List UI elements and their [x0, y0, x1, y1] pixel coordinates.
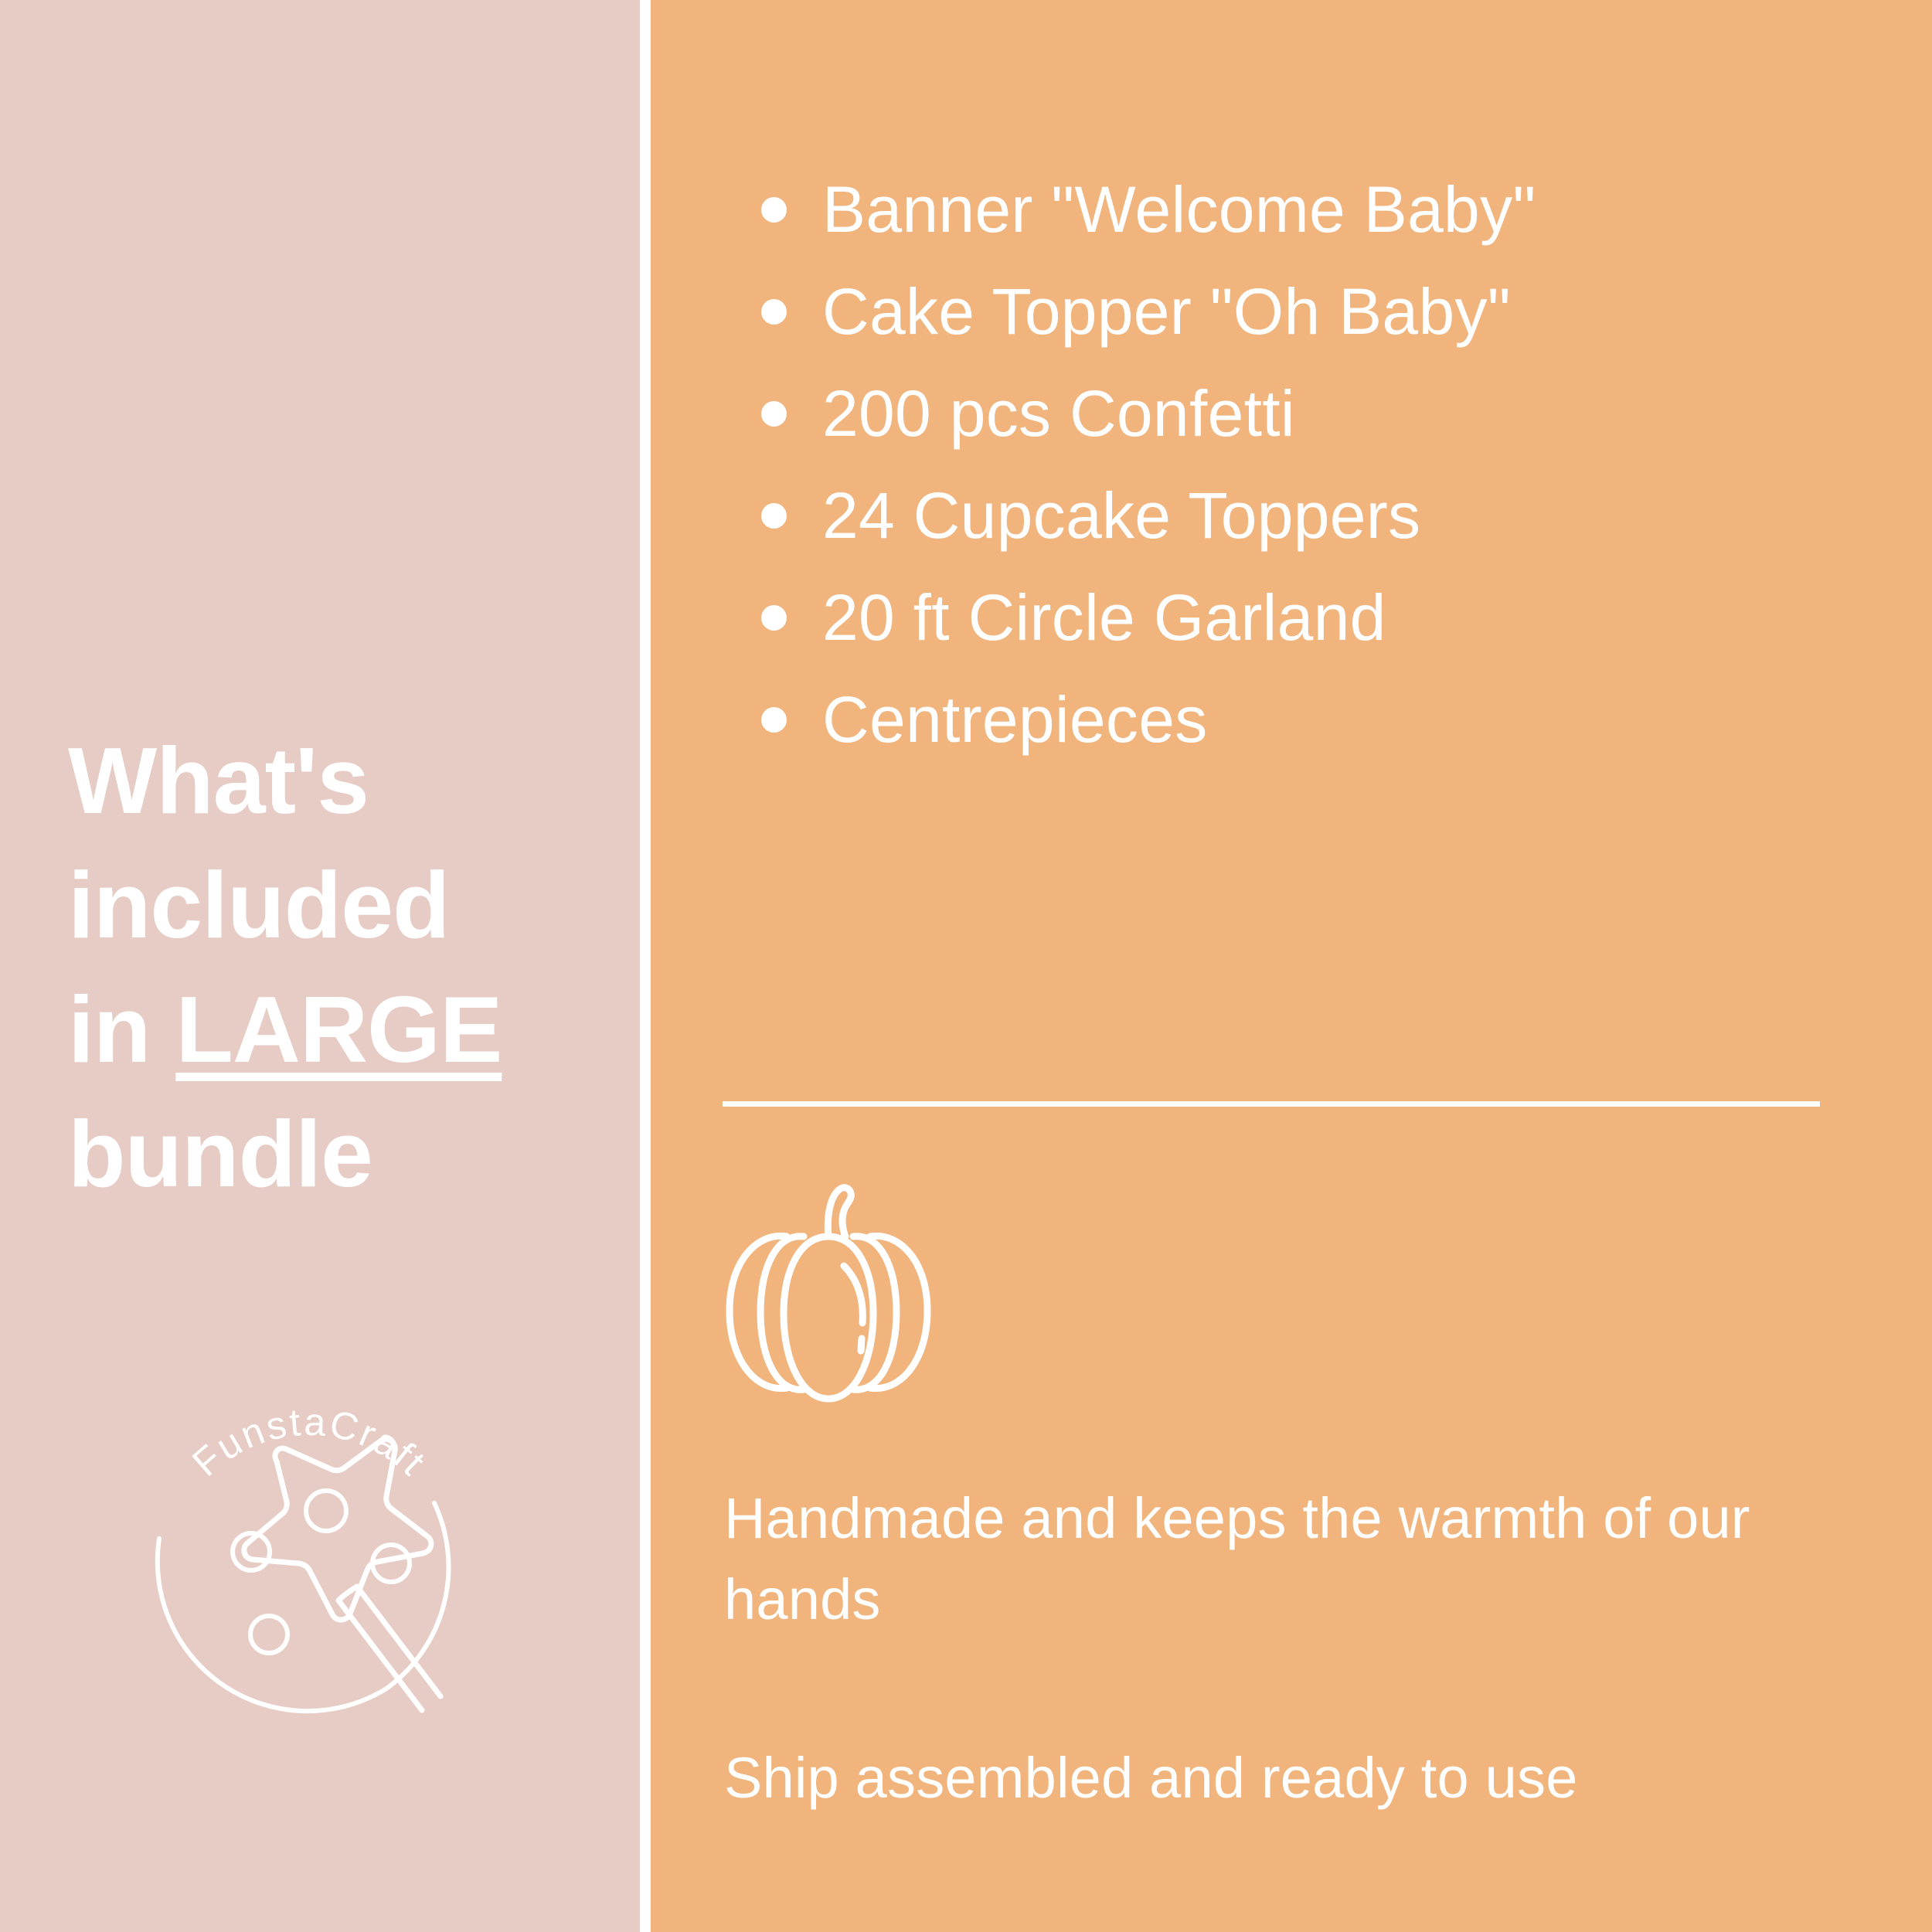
handmade-note: Handmade and keeps the warmth of our han…	[724, 1478, 1845, 1640]
brand-logo: FunstaCraft	[131, 1387, 487, 1743]
logo-sparkle-top-icon	[306, 1491, 346, 1531]
list-item-label: Banner "Welcome Baby"	[822, 173, 1536, 246]
horizontal-divider	[723, 1101, 1820, 1107]
list-item: Centrepieces	[736, 668, 1879, 770]
included-items-list: Banner "Welcome Baby" Cake Topper "Oh Ba…	[736, 158, 1879, 770]
bullet-dot-icon	[761, 707, 787, 733]
shipping-note: Ship assembled and ready to use	[724, 1737, 1845, 1818]
bullet-dot-icon	[761, 605, 787, 631]
list-item: Cake Topper "Oh Baby"	[736, 260, 1879, 362]
list-item: Banner "Welcome Baby"	[736, 158, 1879, 260]
product-info-card: What's included in LARGE bundle FunstaCr…	[0, 0, 1932, 1932]
title-line-2: included	[68, 852, 450, 957]
logo-sparkle-bottom-icon	[250, 1616, 287, 1653]
list-item-label: 200 pcs Confetti	[822, 377, 1295, 450]
title-line-4: bundle	[68, 1101, 372, 1206]
bullet-dot-icon	[761, 503, 787, 529]
logo-wordmark: FunstaCraft	[184, 1400, 435, 1485]
list-item-label: Cake Topper "Oh Baby"	[822, 275, 1511, 348]
list-item-label: 20 ft Circle Garland	[822, 581, 1386, 654]
title-highlight-large: LARGE	[175, 977, 502, 1082]
left-panel: What's included in LARGE bundle FunstaCr…	[0, 0, 640, 1932]
logo-ring-left-icon	[158, 1539, 386, 1711]
right-panel: Banner "Welcome Baby" Cake Topper "Oh Ba…	[651, 0, 1932, 1932]
bullet-dot-icon	[761, 299, 787, 325]
title-line-1: What's	[68, 728, 369, 833]
title-line-3-prefix: in	[68, 977, 175, 1082]
panel-divider-gutter	[640, 0, 651, 1932]
list-item: 20 ft Circle Garland	[736, 566, 1879, 668]
bullet-dot-icon	[761, 401, 787, 427]
pumpkin-outline-icon	[713, 1159, 944, 1414]
list-item-label: Centrepieces	[822, 683, 1208, 756]
page-title: What's included in LARGE bundle	[68, 719, 609, 1216]
list-item-label: 24 Cupcake Toppers	[822, 479, 1420, 552]
bullet-dot-icon	[761, 197, 787, 223]
list-item: 200 pcs Confetti	[736, 362, 1879, 464]
list-item: 24 Cupcake Toppers	[736, 464, 1879, 566]
